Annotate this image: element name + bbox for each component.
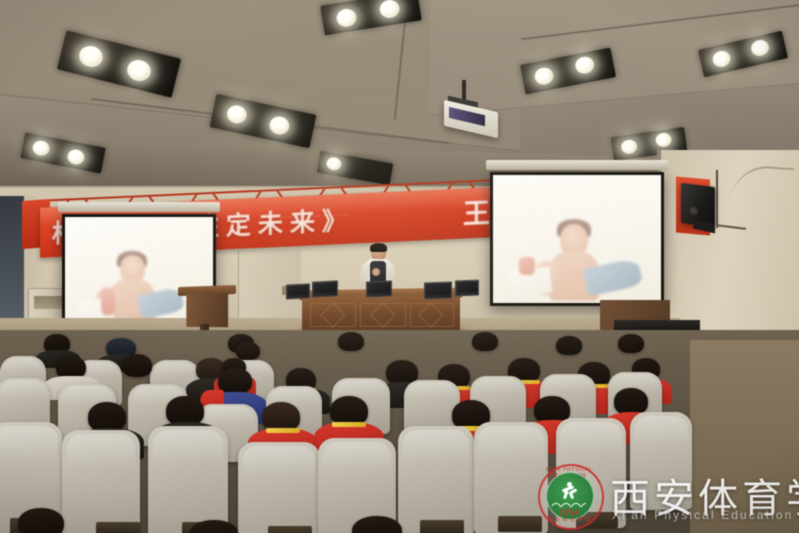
- right-projection-screen: [490, 172, 664, 306]
- laptop-far-left: [286, 283, 308, 297]
- laptop-right: [424, 282, 450, 298]
- right-screen-image: [493, 175, 661, 303]
- presenter-hands: [372, 268, 380, 276]
- screen-roller: [58, 202, 220, 212]
- audience-head: [338, 332, 364, 351]
- slide-red-accent: [519, 257, 535, 275]
- seat-base: [268, 526, 312, 533]
- laptop-left: [312, 280, 336, 295]
- presentation-table: [302, 296, 460, 332]
- audience-head: [236, 342, 260, 360]
- uniform-collar: [266, 428, 300, 433]
- seat-base: [96, 522, 140, 533]
- screen-roller: [486, 160, 668, 170]
- auditorium-photo: 格局 境志注定未来》 ———— ———— 王: [0, 0, 799, 533]
- watermark-english-name: Xi'an Physical Education University: [612, 508, 799, 522]
- audience-head: [18, 508, 64, 533]
- slide-red-accent: [101, 289, 115, 315]
- seat-base: [498, 516, 542, 532]
- projector-vent: [449, 107, 485, 126]
- university-emblem: XI AN PHYSICAL EDUCATION UNIVERSITY 1954…: [538, 464, 600, 526]
- lectern: [186, 293, 228, 327]
- audience-head: [556, 336, 582, 355]
- audience-seat[interactable]: [238, 442, 320, 533]
- watermark: XI AN PHYSICAL EDUCATION UNIVERSITY 1954…: [538, 460, 796, 532]
- laptop-center: [366, 281, 390, 296]
- audience-head: [618, 334, 644, 353]
- laptop-far-right: [455, 280, 477, 295]
- audience-head: [614, 388, 648, 415]
- uniform-collar: [332, 422, 366, 427]
- wall-conduit: [716, 170, 718, 228]
- presenter-hair: [370, 243, 387, 252]
- audience-seat[interactable]: [62, 430, 140, 533]
- audience-seat[interactable]: [398, 426, 474, 533]
- running-athlete-icon: [560, 482, 578, 499]
- speaker-driver: [689, 206, 698, 216]
- emblem-waves: [552, 502, 586, 507]
- banner-right-character: 王: [463, 191, 490, 231]
- seat-base: [420, 520, 464, 533]
- audience-head: [122, 354, 152, 377]
- audience-seat[interactable]: [148, 426, 228, 533]
- audience-head: [472, 332, 498, 351]
- emblem-arc-bottom: 西 安 体 育 学 院: [538, 516, 600, 523]
- slide-person-right: [493, 175, 661, 303]
